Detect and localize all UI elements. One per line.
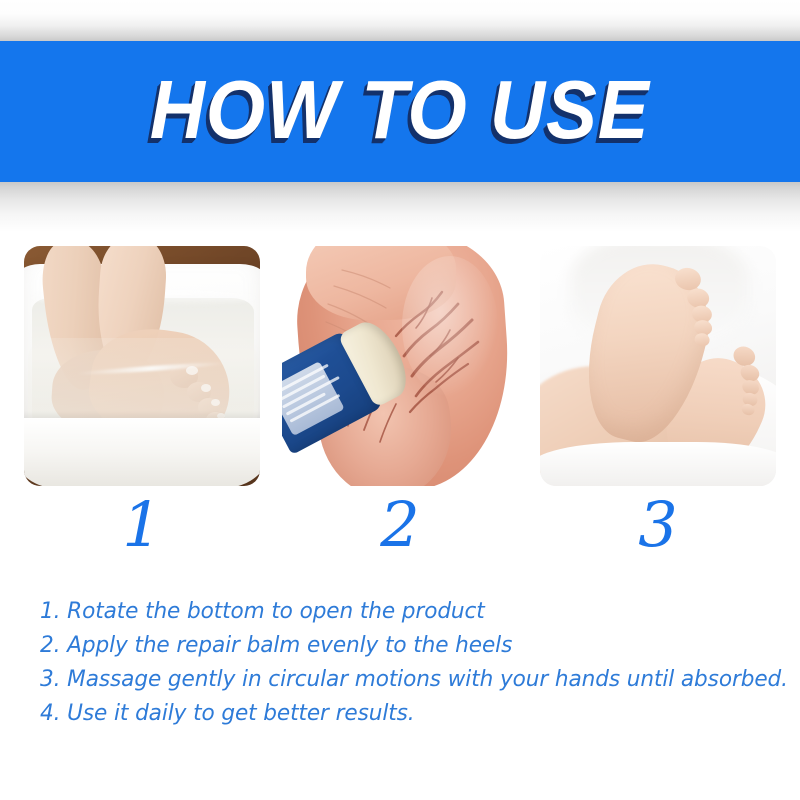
step-number-2: 2 [380,494,419,556]
banner-bottom-shadow [0,182,800,232]
smooth-healthy-feet-photo [540,246,776,486]
header-banner-section: HOW TO USE [0,0,800,232]
steps-row: 1 [0,246,800,556]
step-number-3: 3 [638,494,677,556]
skin-sheen-highlight [402,256,498,396]
feet-soaking-in-basin-photo [24,246,260,486]
page-title: HOW TO USE [150,68,650,151]
header-banner: HOW TO USE [0,41,800,182]
instruction-line-3: 3. Massage gently in circular motions wi… [40,662,750,696]
basin-front-rim [24,418,260,486]
how-to-use-infographic: HOW TO USE [0,0,800,800]
bed-sheet-shape [540,442,776,486]
step-1: 1 [24,246,260,556]
step-3: 3 [540,246,776,556]
instruction-line-4: 4. Use it daily to get better results. [40,696,750,730]
step-2: 2 [282,246,518,556]
instruction-list: 1. Rotate the bottom to open the product… [40,594,780,730]
step-number-1: 1 [122,494,161,556]
banner-top-shadow [0,0,800,41]
applying-balm-to-cracked-heel-photo [282,246,518,486]
instruction-line-1: 1. Rotate the bottom to open the product [40,594,750,628]
instruction-line-2: 2. Apply the repair balm evenly to the h… [40,628,750,662]
